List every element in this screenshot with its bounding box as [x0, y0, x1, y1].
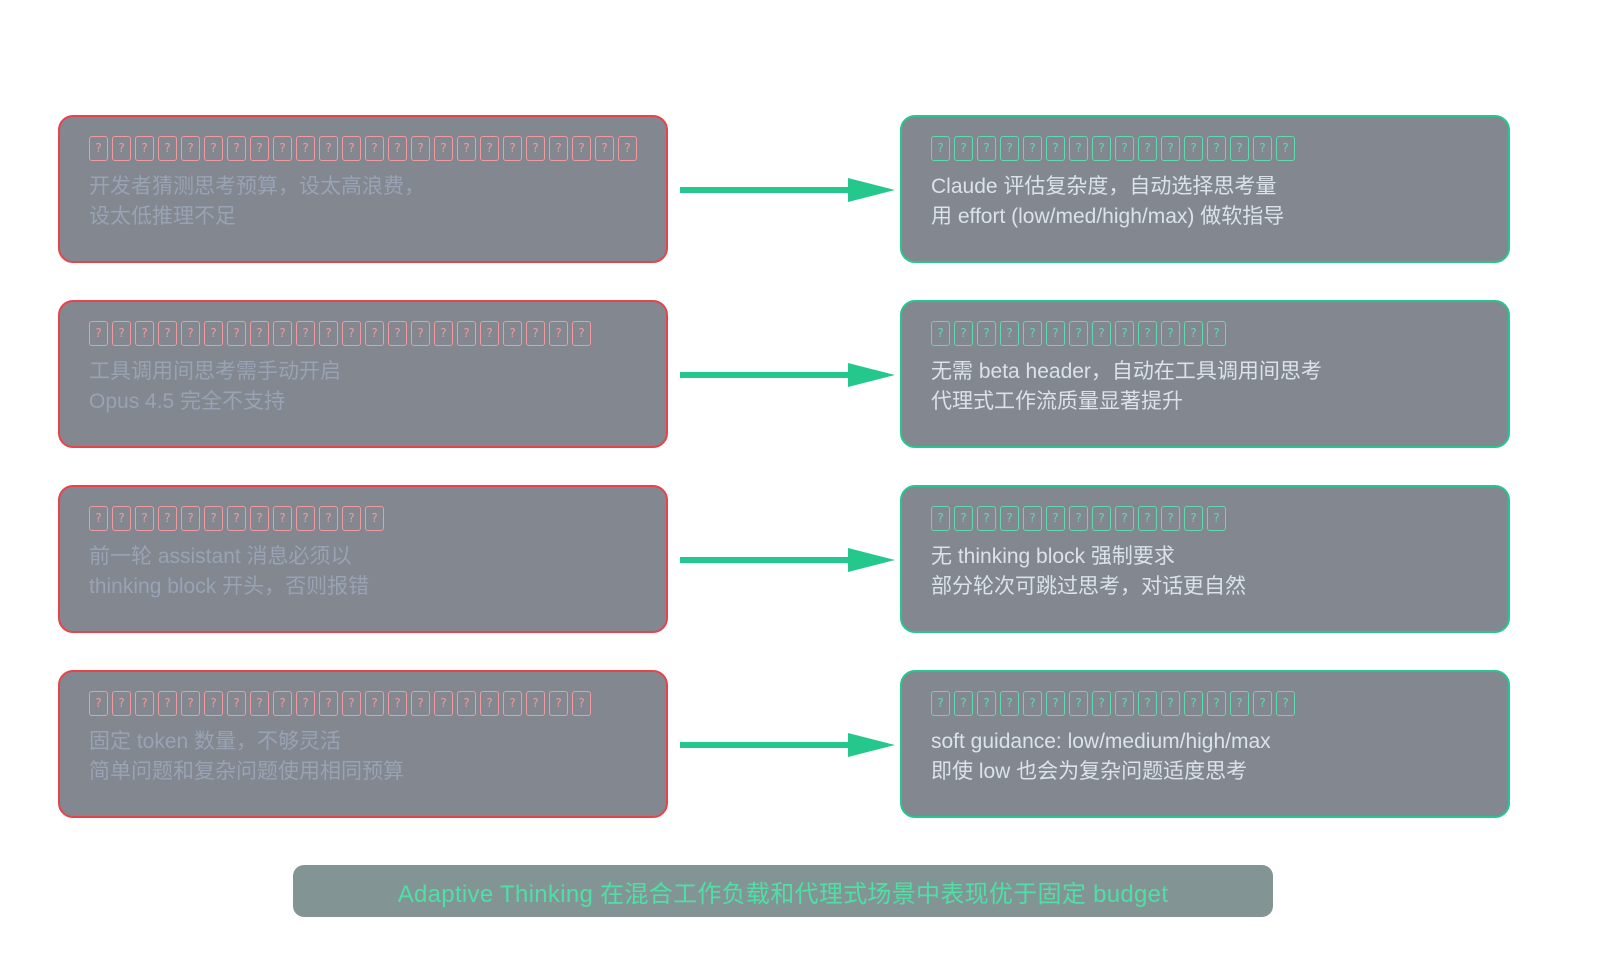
missing-glyph-box: ? — [227, 321, 246, 346]
missing-glyph-box: ? — [1184, 506, 1203, 531]
missing-glyph-box: ? — [388, 136, 407, 161]
card-body-line: 即使 low 也会为复杂问题适度思考 — [931, 757, 1482, 787]
card-body-line: 无需 beta header，自动在工具调用间思考 — [931, 357, 1482, 387]
comparison-rows: ????????????????????????开发者猜测思考预算，设太高浪费，… — [0, 115, 1600, 855]
card-body-line: 工具调用间思考需手动开启 — [89, 357, 640, 387]
missing-glyph-box: ? — [1207, 321, 1226, 346]
missing-glyph-box: ? — [1092, 321, 1111, 346]
missing-glyph-box: ? — [457, 691, 476, 716]
missing-glyph-box: ? — [1138, 136, 1157, 161]
missing-glyph-box: ? — [1115, 136, 1134, 161]
missing-glyph-box: ? — [434, 321, 453, 346]
missing-glyph-box: ? — [457, 321, 476, 346]
arrow-right-icon — [680, 547, 895, 573]
card-heading-missing-glyphs: ?????????????????????? — [89, 321, 640, 347]
missing-glyph-box: ? — [181, 506, 200, 531]
missing-glyph-box: ? — [181, 136, 200, 161]
missing-glyph-box: ? — [273, 506, 292, 531]
missing-glyph-box: ? — [112, 321, 131, 346]
missing-glyph-box: ? — [273, 136, 292, 161]
missing-glyph-box: ? — [1046, 136, 1065, 161]
card-body-line: 设太低推理不足 — [89, 202, 640, 232]
missing-glyph-box: ? — [1046, 506, 1065, 531]
missing-glyph-box: ? — [204, 691, 223, 716]
missing-glyph-box: ? — [954, 691, 973, 716]
missing-glyph-box: ? — [1230, 691, 1249, 716]
missing-glyph-box: ? — [1092, 691, 1111, 716]
missing-glyph-box: ? — [89, 506, 108, 531]
missing-glyph-box: ? — [977, 321, 996, 346]
card-body-line: 用 effort (low/med/high/max) 做软指导 — [931, 202, 1482, 232]
card-body-line: 部分轮次可跳过思考，对话更自然 — [931, 572, 1482, 602]
card-body-line: Claude 评估复杂度，自动选择思考量 — [931, 172, 1482, 202]
missing-glyph-box: ? — [549, 136, 568, 161]
missing-glyph-box: ? — [411, 136, 430, 161]
missing-glyph-box: ? — [1046, 691, 1065, 716]
after-card: ????????????????soft guidance: low/mediu… — [900, 670, 1510, 818]
comparison-row: ??????????????????????工具调用间思考需手动开启Opus 4… — [0, 300, 1600, 485]
missing-glyph-box: ? — [434, 136, 453, 161]
card-body-line: 简单问题和复杂问题使用相同预算 — [89, 757, 640, 787]
missing-glyph-box: ? — [296, 506, 315, 531]
missing-glyph-box: ? — [112, 136, 131, 161]
missing-glyph-box: ? — [135, 506, 154, 531]
card-body-line: 前一轮 assistant 消息必须以 — [89, 542, 640, 572]
missing-glyph-box: ? — [89, 691, 108, 716]
missing-glyph-box: ? — [365, 321, 384, 346]
missing-glyph-box: ? — [342, 506, 361, 531]
missing-glyph-box: ? — [250, 691, 269, 716]
missing-glyph-box: ? — [572, 691, 591, 716]
missing-glyph-box: ? — [112, 691, 131, 716]
before-card: ?????????????前一轮 assistant 消息必须以thinking… — [58, 485, 668, 633]
card-body-line: 无 thinking block 强制要求 — [931, 542, 1482, 572]
missing-glyph-box: ? — [204, 321, 223, 346]
missing-glyph-box: ? — [411, 691, 430, 716]
missing-glyph-box: ? — [1161, 506, 1180, 531]
missing-glyph-box: ? — [1161, 321, 1180, 346]
missing-glyph-box: ? — [158, 136, 177, 161]
summary-banner: Adaptive Thinking 在混合工作负载和代理式场景中表现优于固定 b… — [293, 865, 1273, 917]
missing-glyph-box: ? — [1023, 321, 1042, 346]
missing-glyph-box: ? — [1069, 506, 1088, 531]
missing-glyph-box: ? — [1115, 506, 1134, 531]
missing-glyph-box: ? — [526, 691, 545, 716]
missing-glyph-box: ? — [434, 691, 453, 716]
missing-glyph-box: ? — [135, 691, 154, 716]
missing-glyph-box: ? — [227, 691, 246, 716]
comparison-row: ??????????????????????固定 token 数量，不够灵活简单… — [0, 670, 1600, 855]
missing-glyph-box: ? — [1069, 321, 1088, 346]
missing-glyph-box: ? — [181, 691, 200, 716]
after-card: ?????????????无 thinking block 强制要求部分轮次可跳… — [900, 485, 1510, 633]
missing-glyph-box: ? — [1023, 506, 1042, 531]
missing-glyph-box: ? — [319, 691, 338, 716]
missing-glyph-box: ? — [158, 691, 177, 716]
card-body-line: 开发者猜测思考预算，设太高浪费， — [89, 172, 640, 202]
missing-glyph-box: ? — [227, 506, 246, 531]
missing-glyph-box: ? — [342, 136, 361, 161]
missing-glyph-box: ? — [1230, 136, 1249, 161]
missing-glyph-box: ? — [1023, 691, 1042, 716]
missing-glyph-box: ? — [1207, 506, 1226, 531]
page-title: 4 大核心升级详解 — [0, 0, 1600, 78]
before-card: ????????????????????????开发者猜测思考预算，设太高浪费，… — [58, 115, 668, 263]
missing-glyph-box: ? — [1276, 691, 1295, 716]
missing-glyph-box: ? — [503, 321, 522, 346]
missing-glyph-box: ? — [977, 691, 996, 716]
arrow-right-icon — [680, 732, 895, 758]
missing-glyph-box: ? — [227, 136, 246, 161]
missing-glyph-box: ? — [135, 321, 154, 346]
missing-glyph-box: ? — [977, 506, 996, 531]
missing-glyph-box: ? — [1276, 136, 1295, 161]
missing-glyph-box: ? — [549, 691, 568, 716]
missing-glyph-box: ? — [1115, 691, 1134, 716]
card-body-line: Opus 4.5 完全不支持 — [89, 387, 640, 417]
missing-glyph-box: ? — [931, 136, 950, 161]
missing-glyph-box: ? — [954, 506, 973, 531]
missing-glyph-box: ? — [296, 321, 315, 346]
missing-glyph-box: ? — [1184, 321, 1203, 346]
missing-glyph-box: ? — [1207, 136, 1226, 161]
arrow-right-icon — [680, 362, 895, 388]
after-card: ?????????????无需 beta header，自动在工具调用间思考代理… — [900, 300, 1510, 448]
missing-glyph-box: ? — [480, 321, 499, 346]
before-card: ??????????????????????固定 token 数量，不够灵活简单… — [58, 670, 668, 818]
missing-glyph-box: ? — [204, 136, 223, 161]
missing-glyph-box: ? — [1138, 691, 1157, 716]
missing-glyph-box: ? — [1000, 506, 1019, 531]
missing-glyph-box: ? — [480, 691, 499, 716]
missing-glyph-box: ? — [158, 506, 177, 531]
missing-glyph-box: ? — [931, 506, 950, 531]
card-heading-missing-glyphs: ???????????????????????? — [89, 136, 640, 162]
missing-glyph-box: ? — [572, 321, 591, 346]
missing-glyph-box: ? — [1069, 691, 1088, 716]
missing-glyph-box: ? — [503, 691, 522, 716]
missing-glyph-box: ? — [296, 136, 315, 161]
missing-glyph-box: ? — [1000, 691, 1019, 716]
missing-glyph-box: ? — [296, 691, 315, 716]
missing-glyph-box: ? — [112, 506, 131, 531]
missing-glyph-box: ? — [365, 691, 384, 716]
missing-glyph-box: ? — [549, 321, 568, 346]
arrow-right-icon — [680, 177, 895, 203]
missing-glyph-box: ? — [411, 321, 430, 346]
summary-banner-text: Adaptive Thinking 在混合工作负载和代理式场景中表现优于固定 b… — [398, 874, 1169, 909]
missing-glyph-box: ? — [273, 321, 292, 346]
missing-glyph-box: ? — [1000, 321, 1019, 346]
missing-glyph-box: ? — [250, 321, 269, 346]
missing-glyph-box: ? — [158, 321, 177, 346]
missing-glyph-box: ? — [954, 321, 973, 346]
after-card: ????????????????Claude 评估复杂度，自动选择思考量用 ef… — [900, 115, 1510, 263]
missing-glyph-box: ? — [1115, 321, 1134, 346]
card-heading-missing-glyphs: ????????????? — [89, 506, 640, 532]
missing-glyph-box: ? — [89, 136, 108, 161]
card-heading-missing-glyphs: ???????????????? — [931, 136, 1482, 162]
missing-glyph-box: ? — [457, 136, 476, 161]
missing-glyph-box: ? — [319, 506, 338, 531]
missing-glyph-box: ? — [388, 321, 407, 346]
card-body-line: soft guidance: low/medium/high/max — [931, 727, 1482, 757]
missing-glyph-box: ? — [526, 321, 545, 346]
missing-glyph-box: ? — [181, 321, 200, 346]
missing-glyph-box: ? — [526, 136, 545, 161]
missing-glyph-box: ? — [1184, 691, 1203, 716]
missing-glyph-box: ? — [365, 136, 384, 161]
card-body-line: 代理式工作流质量显著提升 — [931, 387, 1482, 417]
card-heading-missing-glyphs: ????????????? — [931, 506, 1482, 532]
missing-glyph-box: ? — [1069, 136, 1088, 161]
missing-glyph-box: ? — [931, 321, 950, 346]
card-heading-missing-glyphs: ???????????????? — [931, 691, 1482, 717]
comparison-row: ????????????????????????开发者猜测思考预算，设太高浪费，… — [0, 115, 1600, 300]
missing-glyph-box: ? — [618, 136, 637, 161]
missing-glyph-box: ? — [1023, 136, 1042, 161]
missing-glyph-box: ? — [1253, 691, 1272, 716]
missing-glyph-box: ? — [250, 506, 269, 531]
missing-glyph-box: ? — [595, 136, 614, 161]
missing-glyph-box: ? — [388, 691, 407, 716]
missing-glyph-box: ? — [954, 136, 973, 161]
missing-glyph-box: ? — [204, 506, 223, 531]
missing-glyph-box: ? — [319, 321, 338, 346]
missing-glyph-box: ? — [89, 321, 108, 346]
missing-glyph-box: ? — [319, 136, 338, 161]
missing-glyph-box: ? — [931, 691, 950, 716]
missing-glyph-box: ? — [365, 506, 384, 531]
missing-glyph-box: ? — [1138, 506, 1157, 531]
card-body-line: thinking block 开头，否则报错 — [89, 572, 640, 602]
card-heading-missing-glyphs: ????????????? — [931, 321, 1482, 347]
missing-glyph-box: ? — [250, 136, 269, 161]
missing-glyph-box: ? — [1184, 136, 1203, 161]
missing-glyph-box: ? — [1092, 136, 1111, 161]
missing-glyph-box: ? — [342, 691, 361, 716]
missing-glyph-box: ? — [1138, 321, 1157, 346]
before-card: ??????????????????????工具调用间思考需手动开启Opus 4… — [58, 300, 668, 448]
comparison-row: ?????????????前一轮 assistant 消息必须以thinking… — [0, 485, 1600, 670]
missing-glyph-box: ? — [135, 136, 154, 161]
missing-glyph-box: ? — [977, 136, 996, 161]
missing-glyph-box: ? — [273, 691, 292, 716]
missing-glyph-box: ? — [503, 136, 522, 161]
missing-glyph-box: ? — [342, 321, 361, 346]
missing-glyph-box: ? — [572, 136, 591, 161]
missing-glyph-box: ? — [1161, 691, 1180, 716]
card-body-line: 固定 token 数量，不够灵活 — [89, 727, 640, 757]
missing-glyph-box: ? — [1046, 321, 1065, 346]
missing-glyph-box: ? — [1253, 136, 1272, 161]
missing-glyph-box: ? — [480, 136, 499, 161]
missing-glyph-box: ? — [1092, 506, 1111, 531]
missing-glyph-box: ? — [1161, 136, 1180, 161]
missing-glyph-box: ? — [1000, 136, 1019, 161]
card-heading-missing-glyphs: ?????????????????????? — [89, 691, 640, 717]
missing-glyph-box: ? — [1207, 691, 1226, 716]
